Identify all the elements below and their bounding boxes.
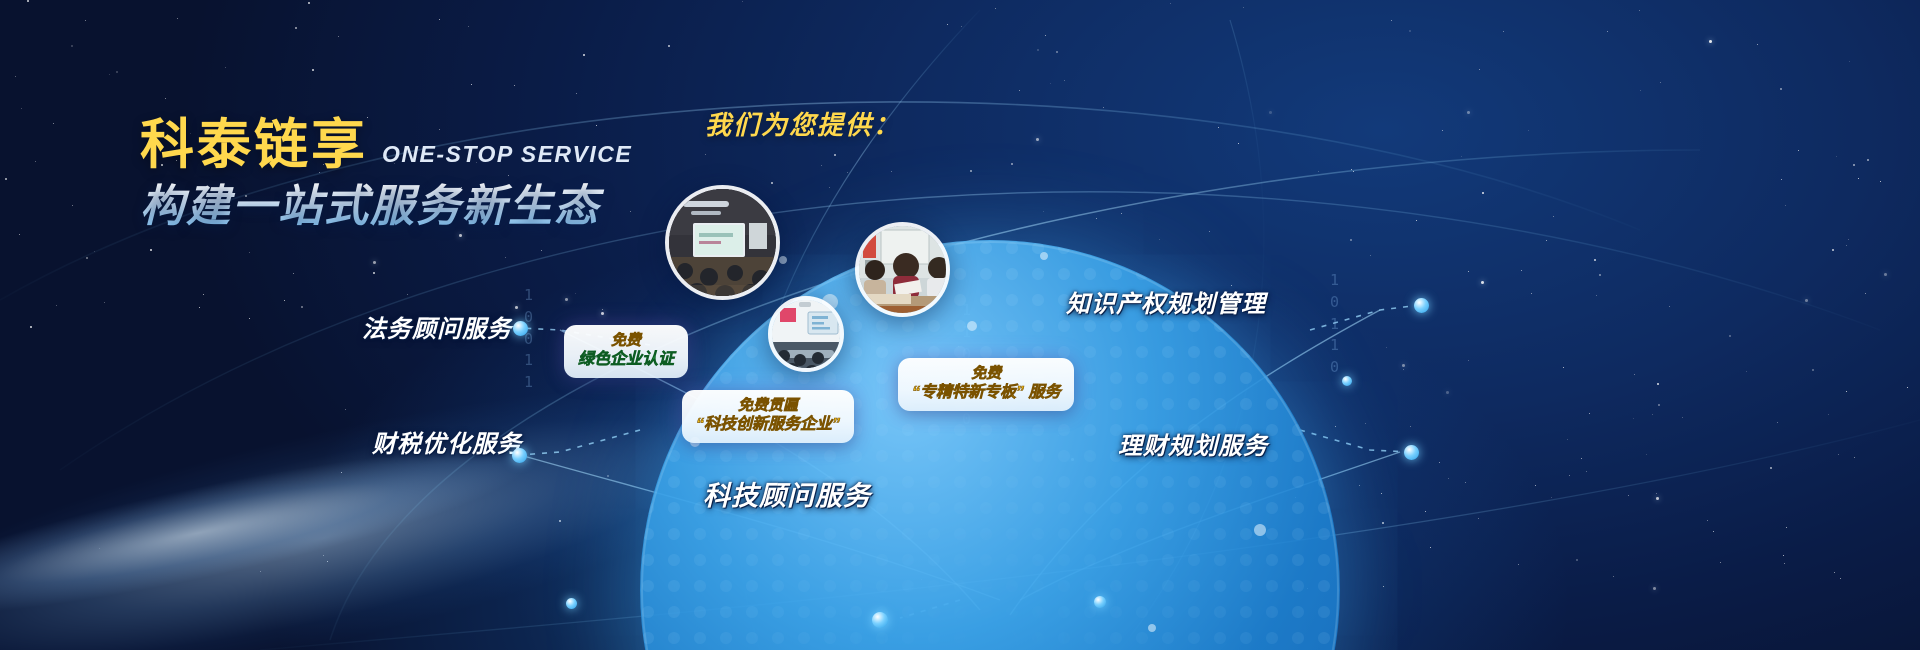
badge-line2: 绿色企业认证 — [578, 350, 674, 370]
node-dot-ip — [1414, 298, 1429, 313]
badge-free-specialized-board[interactable]: 免费 “专精特新专板” 服务 — [898, 358, 1074, 411]
hero-banner: 10011 10110 110010 — [0, 0, 1920, 650]
badge-free-green-certification[interactable]: 免费 绿色企业认证 — [564, 325, 688, 378]
node-dot-extra-2 — [566, 598, 577, 609]
page-title-english: ONE-STOP SERVICE — [382, 141, 632, 172]
page-subtitle: 构建一站式服务新生态 — [140, 182, 632, 231]
badge-line1: 免费 — [578, 332, 674, 350]
node-dot-finance — [512, 448, 527, 463]
binary-decoration-left: 10011 — [524, 285, 534, 394]
service-label-finance[interactable]: 财税优化服务 — [372, 424, 522, 459]
node-dot-legal — [513, 321, 528, 336]
service-label-wealth[interactable]: 理财规划服务 — [1118, 426, 1268, 461]
page-title: 科泰链享 — [140, 118, 368, 172]
photo-office — [855, 222, 950, 317]
service-label-tech[interactable]: 科技顾问服务 — [703, 474, 871, 513]
badge-free-plaque-innovation[interactable]: 免费贯匾 “科技创新服务企业” — [682, 390, 854, 443]
photo-meeting — [768, 296, 844, 372]
headline-block: 科泰链享 ONE-STOP SERVICE 构建一站式服务新生态 — [140, 118, 632, 231]
service-label-ip[interactable]: 知识产权规划管理 — [1066, 284, 1266, 319]
badge-line2: “科技创新服务企业” — [696, 415, 840, 435]
offer-heading: 我们为您提供： — [705, 105, 901, 142]
service-label-legal[interactable]: 法务顾问服务 — [362, 309, 512, 344]
badge-line2: “专精特新专板” 服务 — [912, 383, 1060, 403]
badge-line1: 免费贯匾 — [696, 397, 840, 415]
node-dot-tech — [872, 612, 888, 628]
node-dot-wealth — [1404, 445, 1419, 460]
node-dot-extra-1 — [1094, 596, 1106, 608]
node-dot-extra-3 — [1342, 376, 1352, 386]
badge-line1: 免费 — [912, 365, 1060, 383]
photo-classroom — [665, 185, 780, 300]
